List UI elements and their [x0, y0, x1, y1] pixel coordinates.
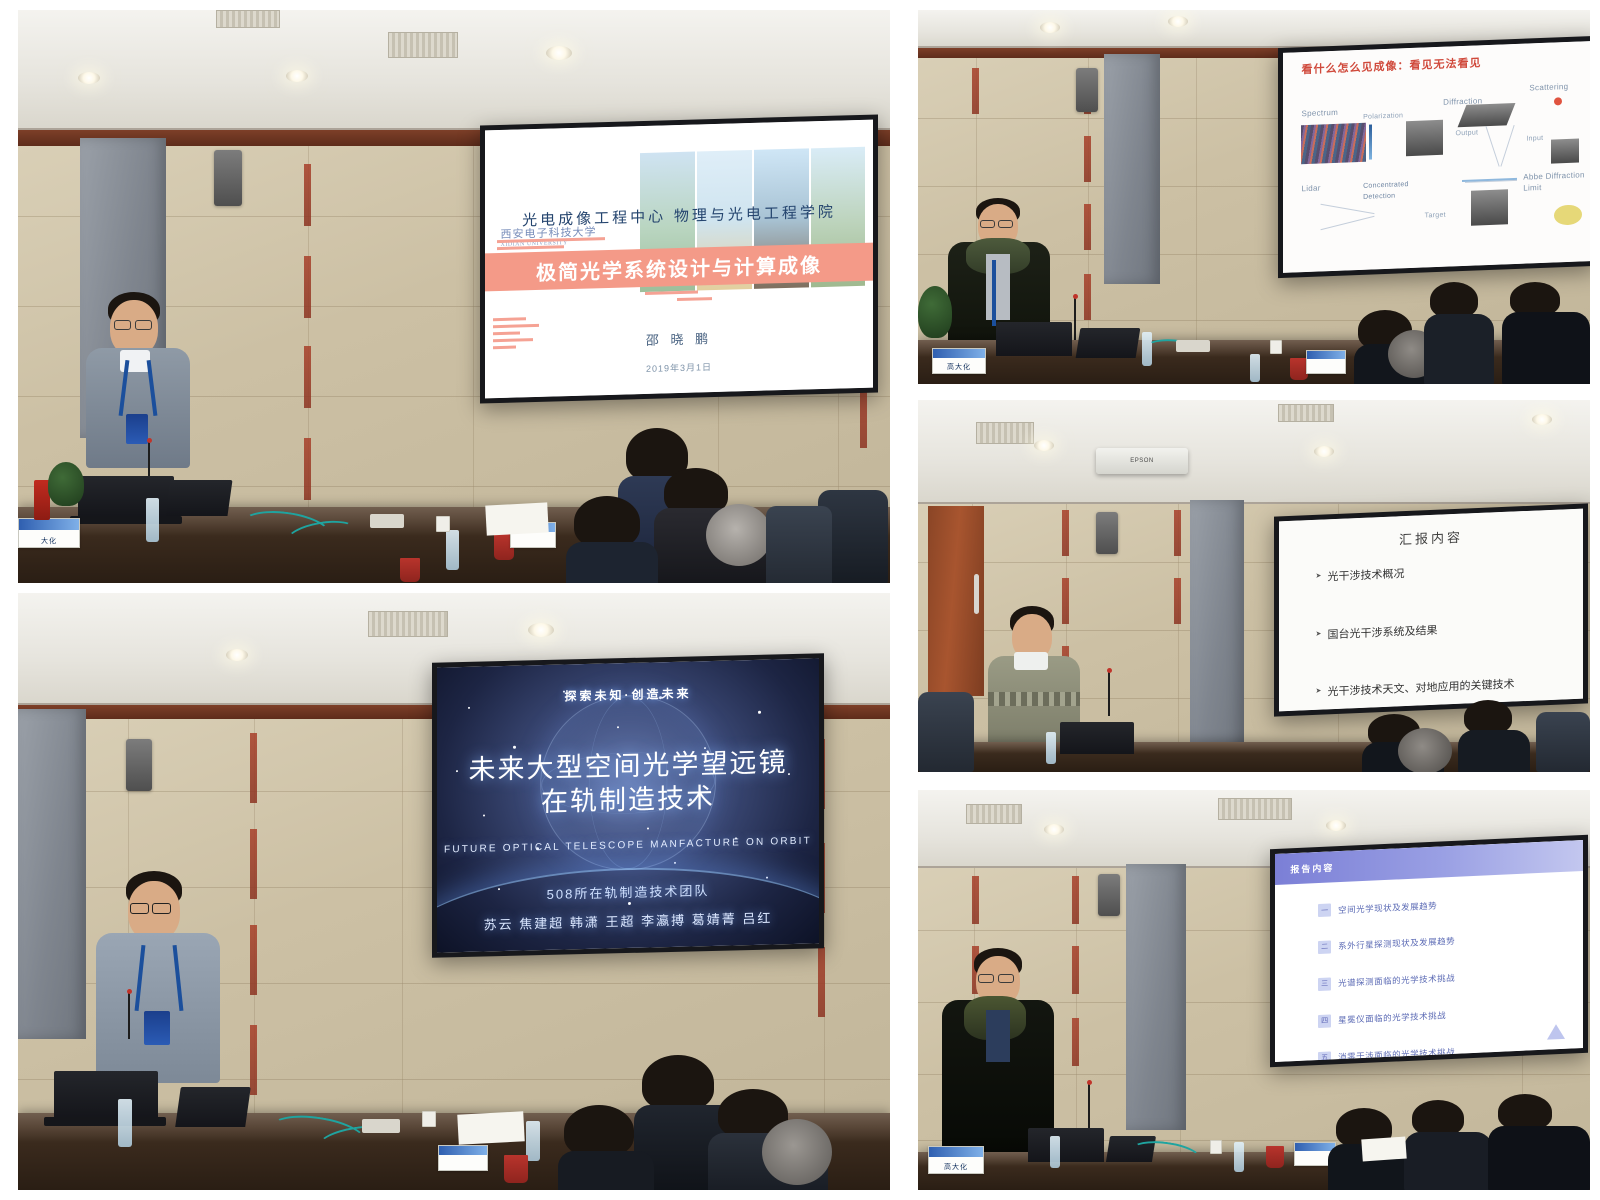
- label-input: Input: [1526, 135, 1543, 143]
- glasses-icon: [130, 903, 149, 914]
- audience-member: [1404, 1100, 1492, 1190]
- air-vent: [1218, 798, 1292, 820]
- presenter-clicker: [148, 442, 150, 478]
- panel-bottom-right[interactable]: 报告内容 一 空间光学现状及发展趋势 二 系外行星探测现状及发展趋势 三 光谱探…: [918, 790, 1590, 1190]
- slide-optics-diagram: 看什么怎么见成像：看见无法看见 Spectrum Polarization Di…: [1283, 41, 1590, 273]
- air-vent: [216, 10, 280, 28]
- tick-marks-mid: [617, 290, 733, 307]
- diffraction-grating-graphic: [1457, 103, 1515, 127]
- agenda-number: 四: [1318, 1014, 1331, 1028]
- projection-screen[interactable]: 报告内容 一 空间光学现状及发展趋势 二 系外行星探测现状及发展趋势 三 光谱探…: [1270, 835, 1588, 1067]
- ceiling-light: [1034, 440, 1054, 451]
- panel-main-left[interactable]: 西安电子科技大学 XIDIAN UNIVERSITY 光电成像工程中心 物理与光…: [18, 10, 890, 583]
- paper-sheet: [457, 1111, 524, 1144]
- slide-interferometry-agenda: 汇报内容 光干涉技术概况 国台光干涉系统及结果 光干涉技术天文、对地应用的关键技…: [1279, 509, 1583, 712]
- name-card-text: 高大化: [929, 1162, 983, 1172]
- paper-cup: [1266, 1146, 1284, 1168]
- agenda-item: 二 系外行星探测现状及发展趋势: [1318, 930, 1571, 954]
- presenter: [92, 871, 242, 1091]
- air-vent: [976, 422, 1034, 444]
- slide-author: 邵 晓 鹏: [485, 323, 873, 353]
- slide-header-band: 报告内容: [1275, 840, 1583, 885]
- conference-badge: [126, 414, 148, 444]
- wall-speaker: [214, 150, 242, 206]
- spectrum-graphic: [1301, 122, 1366, 164]
- name-card: 高大化: [928, 1146, 984, 1174]
- name-card: [438, 1145, 488, 1171]
- potted-plant: [48, 462, 84, 506]
- laptop[interactable]: [78, 476, 174, 518]
- wall-speaker: [1098, 874, 1120, 916]
- agenda-text: 光谱探测面临的光学技术挑战: [1338, 972, 1455, 989]
- conference-badge: [144, 1011, 170, 1045]
- name-card: 大化: [18, 518, 80, 548]
- wooden-door[interactable]: [928, 506, 984, 696]
- agenda-item: 光干涉技术概况: [1315, 561, 1564, 586]
- audience-member: [566, 496, 658, 583]
- agenda-number: 一: [1318, 903, 1331, 917]
- agenda-text: 星冕仪面临的光学技术挑战: [1338, 1010, 1446, 1027]
- office-chair: [918, 692, 974, 772]
- microphone[interactable]: [128, 993, 130, 1039]
- ceiling-light: [1040, 22, 1060, 33]
- agenda-number: 五: [1318, 1051, 1331, 1062]
- label-concentrated-detection: Concentrated Detection: [1363, 180, 1412, 203]
- name-card-text: 高大化: [933, 362, 985, 372]
- glasses-icon: [980, 220, 995, 228]
- ceiling-light: [226, 649, 248, 661]
- ceiling: [18, 10, 890, 130]
- photo-collage: 西安电子科技大学 XIDIAN UNIVERSITY 光电成像工程中心 物理与光…: [0, 0, 1600, 1200]
- agenda-item: 国台光干涉系统及结果: [1315, 618, 1564, 643]
- ceiling-light: [528, 623, 554, 637]
- panel-bottom-left[interactable]: 探索未知·创造未来 未来大型空间光学望远镜 在轨制造技术 FUTURE OPTI…: [18, 593, 890, 1190]
- name-card: 高大化: [932, 348, 986, 374]
- audience-member: [1362, 714, 1444, 772]
- water-bottle: [1046, 732, 1056, 764]
- wall-speaker: [1096, 512, 1118, 554]
- sample-image: [1406, 119, 1443, 156]
- audience-member: [658, 468, 768, 583]
- water-bottle: [1050, 1136, 1060, 1168]
- slide-title: 未来大型空间光学望远镜 在轨制造技术: [437, 744, 819, 822]
- audience-member: [708, 1089, 828, 1190]
- glasses-icon: [152, 903, 171, 914]
- panel-top-right[interactable]: 看什么怎么见成像：看见无法看见 Spectrum Polarization Di…: [918, 10, 1590, 384]
- audience-member: [1424, 282, 1494, 384]
- laptop[interactable]: [996, 322, 1072, 356]
- name-card: [1306, 350, 1346, 374]
- office-chair: [766, 506, 832, 583]
- agenda-text: 系外行星探测现状及发展趋势: [1338, 935, 1455, 952]
- label-polarization: Polarization: [1363, 112, 1403, 121]
- panel-mid-right[interactable]: EPSON 汇报内容 光干涉技术概况 国台光干涉系统及结果 光干涉技术天文、对地…: [918, 400, 1590, 772]
- microphone[interactable]: [1074, 298, 1076, 342]
- power-outlet: [1270, 340, 1282, 354]
- wall-pillar: [18, 709, 86, 1039]
- microphone[interactable]: [1088, 1084, 1090, 1128]
- water-bottle: [526, 1121, 540, 1161]
- laptop[interactable]: [165, 480, 232, 516]
- agenda-item: 一 空间光学现状及发展趋势: [1318, 893, 1571, 917]
- label-spectrum: Spectrum: [1301, 108, 1338, 118]
- ceiling-light: [1168, 16, 1188, 27]
- wall-speaker: [1076, 68, 1098, 112]
- wall-speaker: [126, 739, 152, 791]
- laptop[interactable]: [44, 1117, 166, 1126]
- paper-cup: [400, 558, 420, 582]
- slide-xidian-title: 西安电子科技大学 XIDIAN UNIVERSITY 光电成像工程中心 物理与光…: [485, 120, 873, 399]
- ceiling: [918, 400, 1590, 504]
- label-abbe-limit: Abbe Diffraction Limit: [1523, 169, 1585, 194]
- potted-plant: [918, 286, 952, 338]
- air-vent: [368, 611, 448, 637]
- slide-title: 看什么怎么见成像：看见无法看见: [1301, 54, 1481, 77]
- wall-pillar: [1190, 500, 1244, 760]
- glasses-icon: [998, 220, 1013, 228]
- glasses-icon: [978, 974, 994, 983]
- projection-screen[interactable]: 看什么怎么见成像：看见无法看见 Spectrum Polarization Di…: [1278, 36, 1590, 278]
- slide-report-contents: 报告内容 一 空间光学现状及发展趋势 二 系外行星探测现状及发展趋势 三 光谱探…: [1275, 840, 1583, 1062]
- detector-image: [1471, 189, 1508, 226]
- agenda-list: 光干涉技术概况 国台光干涉系统及结果 光干涉技术天文、对地应用的关键技术: [1315, 561, 1564, 712]
- label-target: Target: [1425, 212, 1446, 220]
- audience-member: [1488, 1094, 1590, 1190]
- microphone[interactable]: [1108, 672, 1110, 716]
- agenda-number: 二: [1318, 940, 1331, 954]
- power-outlet: [436, 516, 450, 532]
- agenda-item: 光干涉技术天文、对地应用的关键技术: [1315, 675, 1564, 700]
- paper-sheet: [485, 502, 548, 535]
- slide-title: 极简光学系统设计与计算成像: [536, 249, 822, 286]
- scatter-source: [1554, 97, 1562, 105]
- glasses-icon: [998, 974, 1014, 983]
- ceiling-light: [1314, 446, 1334, 457]
- audience-member: [558, 1105, 654, 1190]
- projector-brand: EPSON: [1130, 458, 1154, 464]
- ceiling-light: [1326, 820, 1346, 831]
- agenda-item: 三 光谱探测面临的光学技术挑战: [1318, 967, 1571, 991]
- laptop[interactable]: [1060, 722, 1134, 754]
- office-chair: [1536, 712, 1590, 772]
- water-bottle: [1234, 1142, 1244, 1172]
- wall-pillar: [1126, 864, 1186, 1130]
- power-outlet: [1210, 1140, 1222, 1154]
- audience-member: [1502, 282, 1590, 384]
- water-bottle: [1250, 354, 1260, 382]
- label-lidar: Lidar: [1301, 183, 1320, 193]
- laptop[interactable]: [1028, 1128, 1104, 1162]
- label-output: Output: [1455, 129, 1478, 137]
- wall-pillar: [1104, 54, 1160, 284]
- ceiling-projector: EPSON: [1096, 448, 1188, 474]
- presenter-torso: [96, 933, 220, 1083]
- ceiling-light: [1044, 824, 1064, 835]
- abbe-sample: [1551, 138, 1579, 163]
- ceiling-light: [286, 70, 308, 82]
- air-vent: [966, 804, 1022, 824]
- name-card-text: 大化: [19, 536, 79, 546]
- air-vent: [388, 32, 458, 58]
- projection-screen[interactable]: 探索未知·创造未来 未来大型空间光学望远镜 在轨制造技术 FUTURE OPTI…: [432, 653, 824, 958]
- glasses-icon: [114, 320, 131, 330]
- laptop[interactable]: [70, 516, 182, 524]
- laptop[interactable]: [175, 1087, 251, 1127]
- audience-member: [1458, 700, 1530, 772]
- laptop[interactable]: [1076, 328, 1141, 358]
- projection-screen[interactable]: 汇报内容 光干涉技术概况 国台光干涉系统及结果 光干涉技术天文、对地应用的关键技…: [1274, 503, 1588, 716]
- corporate-logo-icon: [1547, 1023, 1565, 1039]
- paper-cup: [504, 1155, 528, 1183]
- projection-screen[interactable]: 西安电子科技大学 XIDIAN UNIVERSITY 光电成像工程中心 物理与光…: [480, 114, 878, 403]
- agenda-number: 三: [1318, 977, 1331, 991]
- water-bottle: [146, 498, 159, 542]
- presenter: [80, 292, 220, 492]
- ceiling-light: [1532, 414, 1552, 425]
- paper-sheet: [1361, 1136, 1406, 1161]
- ceiling-light: [78, 72, 100, 84]
- agenda-list: 一 空间光学现状及发展趋势 二 系外行星探测现状及发展趋势 三 光谱探测面临的光…: [1318, 893, 1571, 1062]
- air-vent: [1278, 404, 1334, 422]
- power-outlet: [422, 1111, 436, 1127]
- agenda-item: 四 星冕仪面临的光学技术挑战: [1318, 1004, 1571, 1028]
- slide-header: 报告内容: [1290, 860, 1334, 875]
- lanyard: [992, 260, 996, 326]
- water-bottle: [446, 530, 459, 570]
- label-scattering: Scattering: [1529, 82, 1568, 92]
- slide-title: 汇报内容: [1279, 522, 1583, 554]
- ceiling-light: [546, 46, 572, 60]
- water-bottle: [118, 1099, 132, 1147]
- slide-space-telescope: 探索未知·创造未来 未来大型空间光学望远镜 在轨制造技术 FUTURE OPTI…: [437, 658, 819, 952]
- glasses-icon: [135, 320, 152, 330]
- slide-date: 2019年3月1日: [485, 355, 873, 379]
- agenda-text: 空间光学现状及发展趋势: [1338, 899, 1437, 915]
- laptop[interactable]: [54, 1071, 158, 1119]
- audience-member: [1354, 310, 1432, 384]
